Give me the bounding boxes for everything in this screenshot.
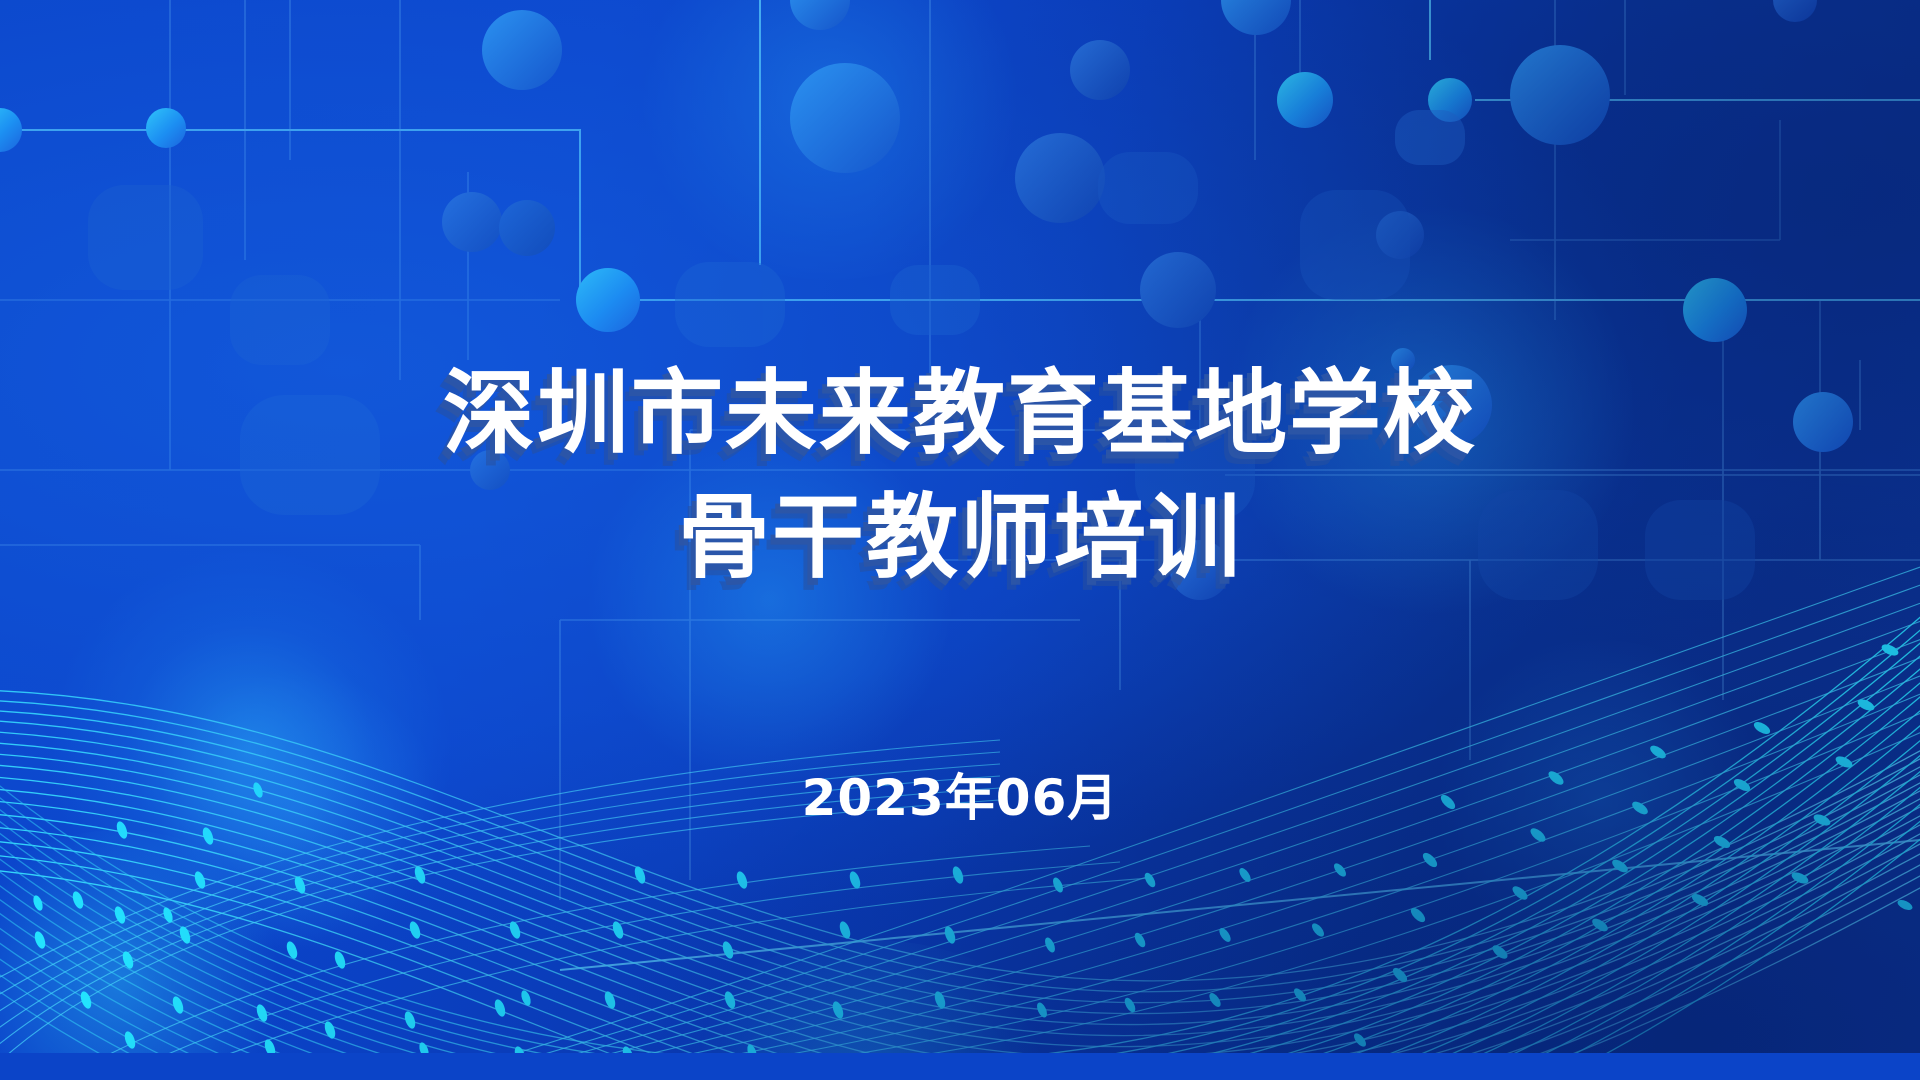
- circuit-node: [790, 0, 850, 30]
- rounded-blob: [1098, 152, 1198, 224]
- circuit-node: [1277, 72, 1333, 128]
- date-text: 2023年06月: [0, 758, 1920, 830]
- circuit-node: [1428, 78, 1472, 122]
- circuit-node: [1221, 0, 1291, 35]
- circuit-node: [1510, 45, 1610, 145]
- bottom-color-band: [0, 1053, 1920, 1080]
- rounded-blob: [88, 185, 203, 290]
- circuit-node: [499, 200, 555, 256]
- circuit-node: [1015, 133, 1105, 223]
- rounded-blob: [1300, 190, 1410, 300]
- rounded-blob: [1395, 110, 1465, 165]
- rounded-blob: [675, 262, 785, 347]
- circuit-node: [1376, 211, 1424, 259]
- title-line-1: 深圳市未来教育基地学校: [0, 352, 1920, 476]
- circuit-node: [482, 10, 562, 90]
- circuit-node: [0, 108, 22, 152]
- glow-spot-bottom-left: [0, 830, 300, 1080]
- wave-family-lower: [0, 600, 1920, 1080]
- glow-spot-top-center: [620, 0, 1040, 280]
- circuit-node: [1773, 0, 1817, 22]
- rounded-blob: [890, 265, 980, 335]
- wave-family-upper: [0, 690, 1920, 1080]
- glow-spot-left: [40, 540, 460, 960]
- circuit-node: [146, 108, 186, 148]
- title-slide: 深圳市未来教育基地学校 骨干教师培训 2023年06月: [0, 0, 1920, 1080]
- circuit-node: [1140, 252, 1216, 328]
- circuit-node: [576, 268, 640, 332]
- title-block: 深圳市未来教育基地学校 骨干教师培训: [0, 352, 1920, 600]
- circuit-node: [1683, 278, 1747, 342]
- circuit-node: [1070, 40, 1130, 100]
- circuit-node: [442, 192, 502, 252]
- circuit-node: [790, 63, 900, 173]
- scatter-dot-field: [32, 642, 1914, 1065]
- title-line-2: 骨干教师培训: [0, 476, 1920, 600]
